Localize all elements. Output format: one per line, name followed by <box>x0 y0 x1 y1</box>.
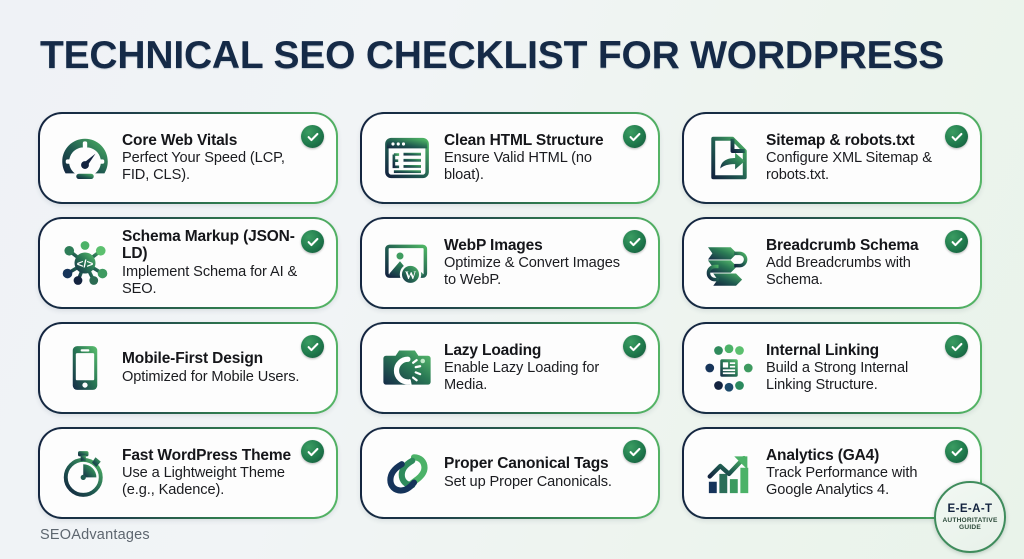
eeat-line-2: AUTHORITATIVE <box>942 517 997 524</box>
svg-text:</>: </> <box>77 258 94 270</box>
checklist-card[interactable]: Breadcrumb Schema Add Breadcrumbs with S… <box>682 217 982 309</box>
chain-link-icon <box>376 439 438 507</box>
check-badge[interactable] <box>945 335 968 358</box>
check-badge[interactable] <box>301 440 324 463</box>
chip-network-icon <box>698 334 760 402</box>
check-badge[interactable] <box>301 335 324 358</box>
check-badge[interactable] <box>301 230 324 253</box>
card-title: WebP Images <box>444 237 622 254</box>
card-desc: Track Performance with Google Analytics … <box>766 465 944 499</box>
card-title: Core Web Vitals <box>122 132 300 149</box>
card-title: Schema Markup (JSON-LD) <box>122 228 300 263</box>
card-desc: Ensure Valid HTML (no bloat). <box>444 150 622 184</box>
checklist-grid: Core Web Vitals Perfect Your Speed (LCP,… <box>38 112 990 527</box>
check-badge[interactable] <box>623 335 646 358</box>
card-title: Breadcrumb Schema <box>766 237 944 254</box>
card-desc: Add Breadcrumbs with Schema. <box>766 255 944 289</box>
checklist-card[interactable]: Proper Canonical Tags Set up Proper Cano… <box>360 427 660 519</box>
checklist-card[interactable]: Internal Linking Build a Strong Internal… <box>682 322 982 414</box>
card-title: Clean HTML Structure <box>444 132 622 149</box>
check-badge[interactable] <box>945 125 968 148</box>
checklist-card[interactable]: Fast WordPress Theme Use a Lightweight T… <box>38 427 338 519</box>
check-badge[interactable] <box>945 440 968 463</box>
checklist-card[interactable]: </> Schema Markup (JSON-LD) Implement Sc… <box>38 217 338 309</box>
eeat-line-3: GUIDE <box>959 524 981 531</box>
check-badge[interactable] <box>623 230 646 253</box>
card-desc: Perfect Your Speed (LCP, FID, CLS). <box>122 150 300 184</box>
card-title: Mobile-First Design <box>122 350 300 367</box>
card-title: Proper Canonical Tags <box>444 455 622 472</box>
card-desc: Use a Lightweight Theme (e.g., Kadence). <box>122 465 300 499</box>
check-badge[interactable] <box>623 125 646 148</box>
breadcrumb-arrows-icon <box>698 229 760 297</box>
svg-text:W: W <box>405 270 417 282</box>
card-title: Sitemap & robots.txt <box>766 132 944 149</box>
file-export-icon <box>698 124 760 192</box>
checklist-card[interactable]: Sitemap & robots.txt Configure XML Sitem… <box>682 112 982 204</box>
eeat-badge: E-E-A-T AUTHORITATIVE GUIDE <box>934 481 1006 553</box>
checklist-card[interactable]: Core Web Vitals Perfect Your Speed (LCP,… <box>38 112 338 204</box>
card-desc: Optimize & Convert Images to WebP. <box>444 255 622 289</box>
card-title: Analytics (GA4) <box>766 447 944 464</box>
bar-chart-growth-icon <box>698 439 760 507</box>
eeat-line-1: E-E-A-T <box>948 503 993 515</box>
code-window-icon <box>376 124 438 192</box>
node-network-code-icon: </> <box>54 229 116 297</box>
check-badge[interactable] <box>623 440 646 463</box>
speedometer-icon <box>54 124 116 192</box>
footer-brand: SEOAdvantages <box>40 527 150 543</box>
stopwatch-icon <box>54 439 116 507</box>
image-webp-icon: W <box>376 229 438 297</box>
checklist-card[interactable]: Clean HTML Structure Ensure Valid HTML (… <box>360 112 660 204</box>
checklist-card[interactable]: W WebP Images Optimize & Convert Images … <box>360 217 660 309</box>
card-desc: Configure XML Sitemap & robots.txt. <box>766 150 944 184</box>
card-desc: Enable Lazy Loading for Media. <box>444 360 622 394</box>
card-title: Lazy Loading <box>444 342 622 359</box>
page-title: TECHNICAL SEO CHECKLIST FOR WORDPRESS <box>40 36 990 77</box>
check-badge[interactable] <box>301 125 324 148</box>
checklist-card[interactable]: Lazy Loading Enable Lazy Loading for Med… <box>360 322 660 414</box>
card-desc: Optimized for Mobile Users. <box>122 369 300 386</box>
card-title: Fast WordPress Theme <box>122 447 300 464</box>
card-title: Internal Linking <box>766 342 944 359</box>
camera-loading-icon <box>376 334 438 402</box>
smartphone-icon <box>54 334 116 402</box>
card-desc: Build a Strong Internal Linking Structur… <box>766 360 944 394</box>
card-desc: Implement Schema for AI & SEO. <box>122 264 300 298</box>
check-badge[interactable] <box>945 230 968 253</box>
checklist-card[interactable]: Mobile-First Design Optimized for Mobile… <box>38 322 338 414</box>
card-desc: Set up Proper Canonicals. <box>444 474 622 491</box>
